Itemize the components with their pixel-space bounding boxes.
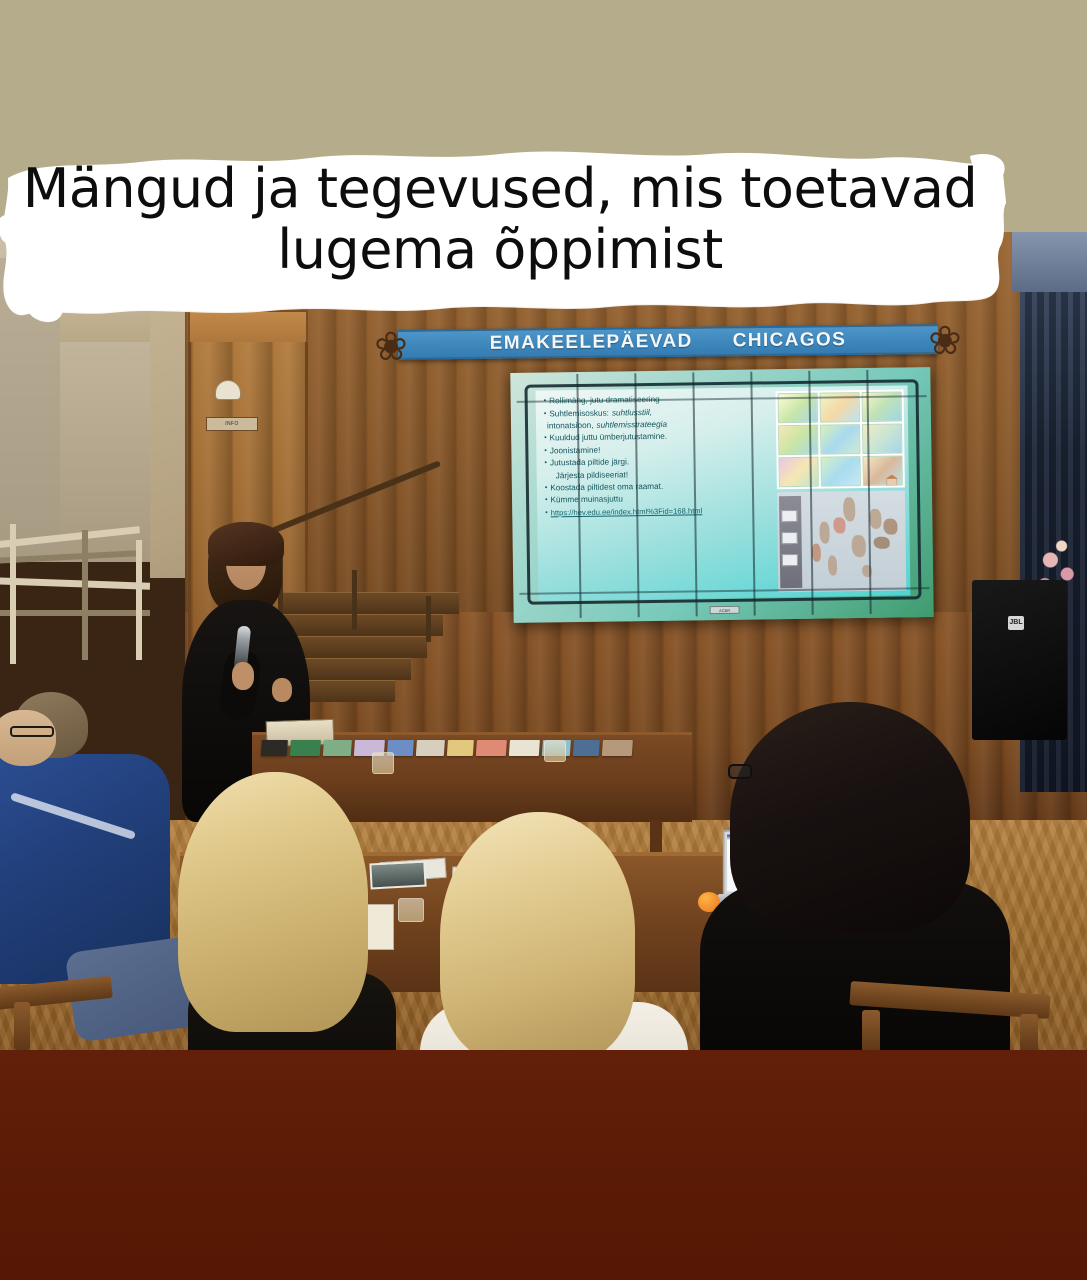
paper-cutout — [862, 565, 872, 577]
paper-cutout — [883, 519, 897, 535]
comic-panel — [820, 456, 860, 487]
presentation-slide: • Rollimäng, jutu dramatiseering • Suhtl… — [536, 385, 911, 600]
presenter-hand-secondary — [272, 678, 292, 702]
bullet-marker: • — [544, 433, 547, 444]
bottom-background-band — [0, 1050, 1087, 1280]
eyeglasses-worn — [10, 726, 54, 737]
banner-text-right: CHICAGOS — [733, 329, 847, 352]
event-photograph: INFO JBL ❀ EMAKEELEPÄEVAD CHICAGOS ❀ • R… — [0, 232, 1087, 1050]
teaching-materials-row — [261, 722, 683, 756]
bullet-text-italic: suhtlusstiil, — [612, 407, 652, 418]
railing-post — [352, 570, 357, 630]
slide-link-bullet[interactable]: • https://hev.edu.ee/index.html%3Fid=168… — [545, 505, 777, 519]
paper-cutout — [843, 497, 855, 521]
pinboard-card — [781, 510, 797, 522]
slide-bullet: intonatsioon, suhtlemisstrateegia — [544, 418, 776, 431]
comic-panel — [862, 455, 902, 486]
drinking-glass — [544, 740, 566, 762]
paper-cutout — [874, 537, 890, 549]
bullet-text: Järjesta pildiseeriat! — [556, 470, 628, 481]
material-item — [509, 740, 540, 756]
dark-hair — [730, 702, 970, 932]
bullet-marker: • — [544, 409, 547, 420]
face — [0, 710, 56, 766]
material-item — [476, 740, 507, 756]
wooden-chair-leg — [862, 1010, 880, 1050]
poster-title-block: Mängud ja tegevused, mis toetavad lugema… — [0, 148, 1010, 323]
comic-panel — [778, 457, 818, 488]
slide-bullet: • Koostada piltidest oma raamat. — [545, 480, 777, 494]
slide-bullet: • Suhtlemisoskus: suhtlusstiil, — [544, 406, 776, 420]
paper-cutout-figures-photo — [777, 490, 906, 592]
presenter-hair-front — [208, 522, 284, 566]
comic-panel — [778, 393, 818, 424]
door-sign: INFO — [206, 417, 258, 431]
house-icon — [885, 475, 899, 486]
audience-person-blonde-center — [420, 812, 690, 1050]
paper-cutout — [852, 535, 866, 557]
material-item — [323, 740, 352, 756]
flower-decoration-left-icon: ❀ — [368, 324, 414, 370]
slide-bullet: • Joonistamine! — [544, 443, 776, 457]
drinking-glass — [372, 752, 394, 774]
event-banner: ❀ EMAKEELEPÄEVAD CHICAGOS ❀ — [398, 324, 938, 360]
slide-bullet: • Rollimäng, jutu dramatiseering — [544, 393, 776, 407]
slide-bullet: Järjesta pildiseeriat! — [545, 468, 777, 481]
blonde-hair — [178, 772, 368, 1032]
bullet-text: Joonistamine! — [550, 445, 601, 456]
bullet-text: Kuuldud juttu ümberjutustamine. — [550, 432, 668, 444]
poster-title-line-1: Mängud ja tegevused, mis toetavad — [23, 157, 978, 220]
curtain-valance — [1012, 232, 1087, 292]
flower-decoration-right-icon: ❀ — [922, 318, 968, 364]
bullet-text: Koostada piltidest oma raamat. — [550, 481, 663, 493]
paper-cutout — [812, 544, 821, 562]
projection-screen: • Rollimäng, jutu dramatiseering • Suhtl… — [510, 367, 933, 623]
bullet-marker: • — [544, 458, 547, 469]
bullet-marker: • — [544, 396, 547, 407]
slide-bullet: • Kuuldud juttu ümberjutustamine. — [544, 430, 776, 444]
railing-post — [426, 596, 431, 642]
slide-bullet: • Jutustada piltide järgi. — [544, 455, 776, 469]
material-item — [573, 740, 600, 756]
material-item — [290, 740, 321, 756]
comic-panel — [820, 392, 860, 423]
paper-cutout — [869, 509, 881, 529]
wooden-chair-leg — [1020, 1014, 1038, 1050]
stacked-chairs — [0, 524, 170, 684]
audience-person-blonde-left — [178, 772, 398, 1050]
bullet-marker: • — [544, 446, 547, 457]
bullet-text: Rollimäng, jutu dramatiseering — [549, 395, 660, 407]
poster-title-line-2: lugema õppimist — [0, 219, 1000, 280]
pinboard-card — [782, 554, 798, 566]
material-item — [416, 740, 445, 756]
paper-cutout — [833, 517, 845, 533]
poster-title: Mängud ja tegevused, mis toetavad lugema… — [0, 158, 1000, 280]
bullet-marker: • — [545, 483, 548, 494]
presenter-hand — [232, 662, 254, 690]
pa-speaker-logo: JBL — [1008, 616, 1024, 630]
bullet-text: intonatsioon, — [547, 421, 594, 432]
bullet-text: Jutustada piltide järgi. — [550, 457, 629, 468]
comic-story-picture-grid — [776, 389, 905, 489]
bullet-text: Suhtlemisoskus: — [549, 408, 609, 419]
slide-bullet: • Kümme muinasjuttu — [545, 492, 777, 506]
eyeglasses-worn — [728, 764, 752, 779]
paper-cutout — [828, 555, 837, 575]
comic-panel — [778, 425, 818, 456]
comic-panel — [862, 423, 902, 454]
blonde-hair — [440, 812, 635, 1050]
slide-bullet-list: • Rollimäng, jutu dramatiseering • Suhtl… — [544, 393, 778, 518]
paper-cutout — [819, 522, 829, 544]
material-item — [602, 740, 633, 756]
bullet-text-italic: suhtlemisstrateegia — [596, 420, 667, 431]
door-lamp — [215, 380, 241, 400]
material-item — [261, 740, 288, 756]
banner-text-left: EMAKEELEPÄEVAD — [490, 331, 693, 355]
bullet-marker: • — [545, 508, 548, 519]
bullet-text: Kümme muinasjuttu — [550, 494, 622, 505]
wooden-chair-leg — [14, 1002, 30, 1050]
bullet-marker: • — [545, 495, 548, 506]
pinboard-card — [782, 532, 798, 544]
comic-panel — [820, 424, 860, 455]
comic-panel — [862, 391, 902, 422]
slide-hyperlink[interactable]: https://hev.edu.ee/index.html%3Fid=168.h… — [551, 506, 703, 517]
material-item — [447, 740, 474, 756]
